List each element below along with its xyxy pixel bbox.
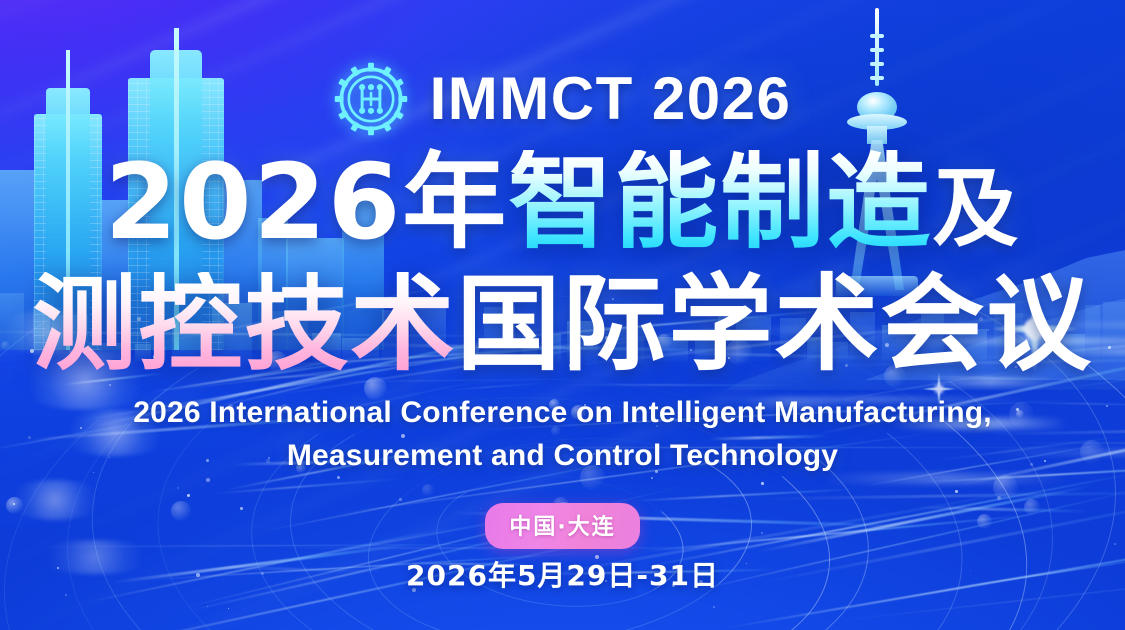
logo-text: IMMCT 2026 xyxy=(430,69,792,129)
title-seg-international-conference: 国际学术会议 xyxy=(457,272,1093,376)
location-badge: 中国·大连 xyxy=(485,503,639,549)
gear-circuit-icon xyxy=(334,62,408,136)
subtitle-en-line-1: 2026 International Conference on Intelli… xyxy=(23,392,1103,435)
banner-content: IMMCT 2026 2026年智能制造及 测控技术国际学术会议 2026 In… xyxy=(0,0,1125,630)
conference-date: 2026年5月29日-31日 xyxy=(0,554,1125,594)
title-seg-measurement-control: 测控技术 xyxy=(32,272,456,376)
logo-row: IMMCT 2026 xyxy=(0,62,1125,136)
title-seg-year: 2026年 xyxy=(105,150,508,254)
main-title-line-1: 2026年智能制造及 xyxy=(0,150,1125,254)
conference-banner: IMMCT 2026 2026年智能制造及 测控技术国际学术会议 2026 In… xyxy=(0,0,1125,630)
main-title-line-2: 测控技术国际学术会议 xyxy=(0,272,1125,376)
title-seg-intelligent-manufacturing: 智能制造 xyxy=(508,150,932,254)
subtitle-en-line-2: Measurement and Control Technology xyxy=(23,435,1103,478)
subtitle-en: 2026 International Conference on Intelli… xyxy=(23,392,1103,477)
location-badge-wrap: 中国·大连 xyxy=(0,503,1125,549)
title-seg-and: 及 xyxy=(932,166,1020,252)
